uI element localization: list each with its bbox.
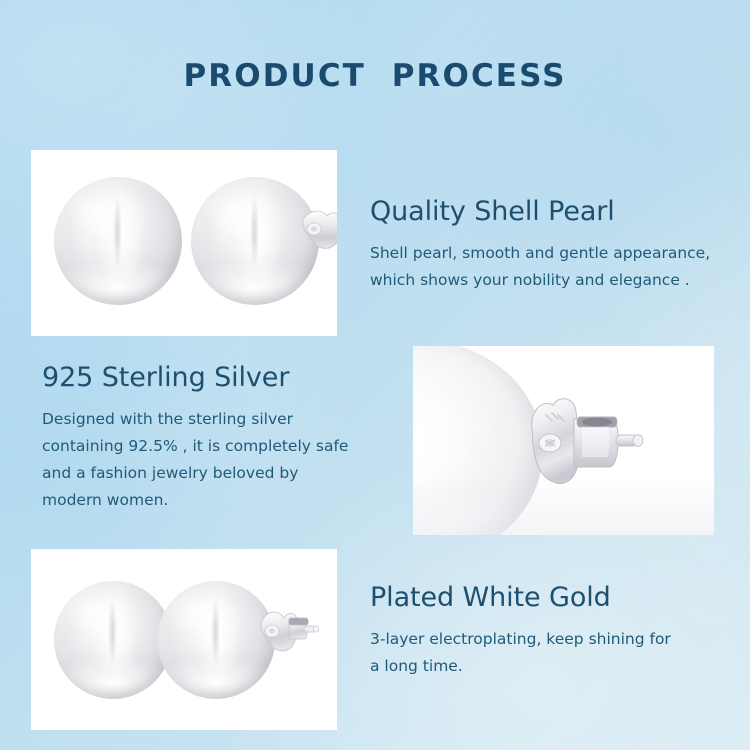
feature-body: Designed with the sterling silver contai… <box>42 406 348 514</box>
feature-heading: Plated White Gold <box>370 582 671 613</box>
feature-image-925-sterling-silver <box>413 346 714 535</box>
page-title: PRODUCT PROCESS <box>0 58 750 94</box>
feature-image-plated-white-gold <box>31 549 337 730</box>
feature-text-quality-shell-pearl: Quality Shell Pearl Shell pearl, smooth … <box>370 196 710 294</box>
feature-body: 3-layer electroplating, keep shining for… <box>370 626 671 680</box>
feature-image-quality-shell-pearl <box>31 150 337 336</box>
earring-clutch-icon <box>299 204 337 256</box>
earring-clutch-icon <box>259 605 321 657</box>
pearl-right-icon <box>157 581 275 699</box>
feature-heading: Quality Shell Pearl <box>370 196 710 227</box>
feature-text-925-sterling-silver: 925 Sterling Silver Designed with the st… <box>42 362 348 514</box>
pearl-shadow <box>413 475 714 535</box>
feature-body-line: a long time. <box>370 653 671 680</box>
pearl-left-icon <box>54 177 182 305</box>
feature-heading: 925 Sterling Silver <box>42 362 348 393</box>
feature-body-line: which shows your nobility and elegance . <box>370 267 710 294</box>
feature-body-line: 3-layer electroplating, keep shining for <box>370 626 671 653</box>
feature-body: Shell pearl, smooth and gentle appearanc… <box>370 240 710 294</box>
feature-text-plated-white-gold: Plated White Gold 3-layer electroplating… <box>370 582 671 680</box>
feature-body-line: modern women. <box>42 487 348 514</box>
feature-body-line: Designed with the sterling silver <box>42 406 348 433</box>
feature-body-line: Shell pearl, smooth and gentle appearanc… <box>370 240 710 267</box>
feature-body-line: and a fashion jewelry beloved by <box>42 460 348 487</box>
pearl-left-icon <box>54 581 172 699</box>
feature-body-line: containing 92.5% , it is completely safe <box>42 433 348 460</box>
